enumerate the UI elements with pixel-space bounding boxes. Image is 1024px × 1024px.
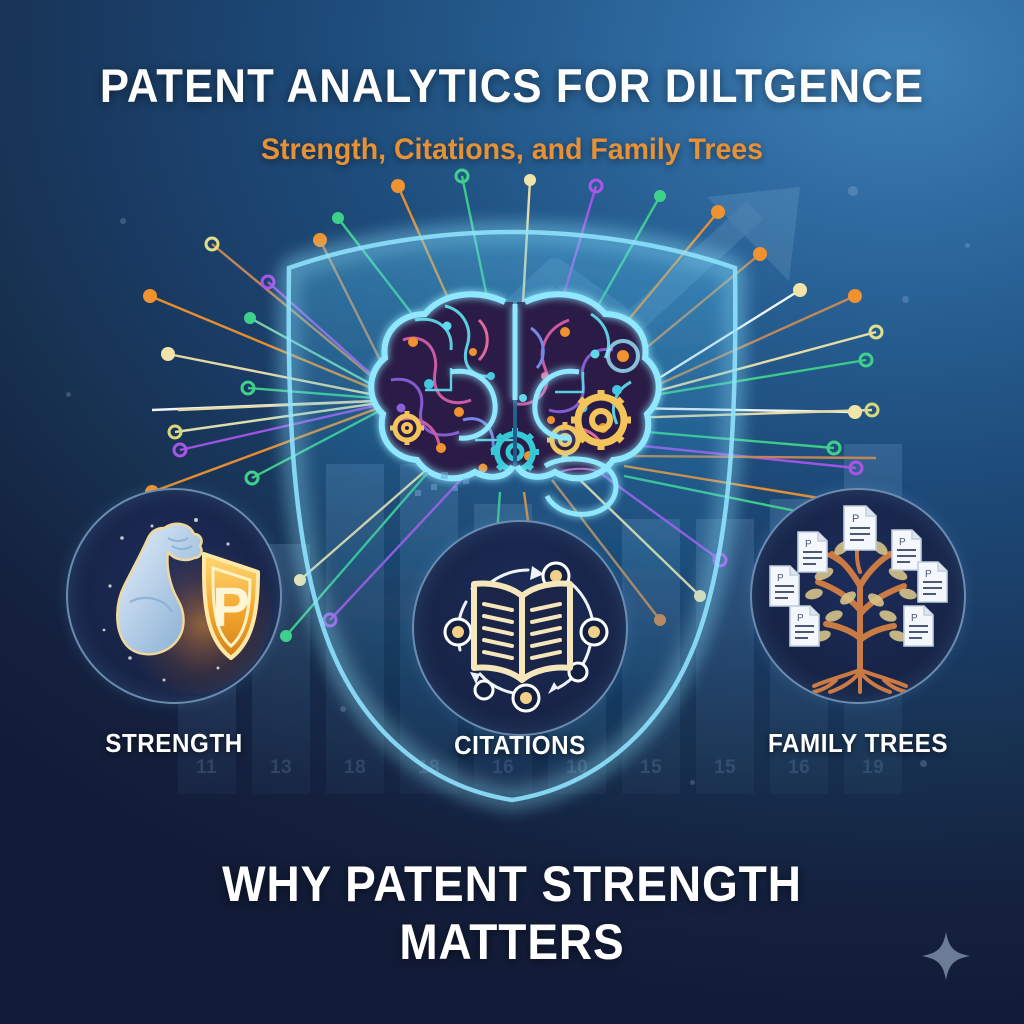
svg-text:P: P: [777, 573, 784, 584]
svg-text:P: P: [852, 513, 859, 525]
pillar-citations[interactable]: CITATIONS: [412, 520, 628, 736]
infographic-poster: 11 13 18 18 16 10 15 15 16 19: [0, 0, 1024, 1024]
svg-text:P: P: [805, 539, 812, 550]
pillar-citations-label: CITATIONS: [364, 730, 676, 761]
pillar-family-label: FAMILY TREES: [702, 728, 1014, 759]
circuit-board-brain-icon: [355, 280, 675, 525]
flexed-bicep-with-patent-shield-icon: P: [68, 490, 282, 704]
footer-title: WHY PATENT STRENGTH MATTERS: [41, 855, 983, 971]
footer-title-line1: WHY PATENT STRENGTH: [41, 855, 983, 913]
svg-text:P: P: [797, 613, 804, 624]
four-point-star-sparkle-icon: [920, 930, 972, 982]
svg-text:P: P: [899, 537, 906, 548]
page-title: PATENT ANALYTICS FOR DILTGENCE: [36, 58, 988, 113]
patent-family-tree-icon: P P: [752, 490, 966, 704]
page-subtitle: Strength, Citations, and Family Trees: [26, 133, 999, 167]
pillar-strength-disc: P: [66, 488, 282, 704]
pillar-strength-label: STRENGTH: [18, 728, 330, 759]
pillar-strength[interactable]: P STRENGTH: [66, 488, 282, 704]
svg-text:P: P: [911, 613, 918, 624]
pillar-citations-disc: [412, 520, 628, 736]
footer-title-line2: MATTERS: [41, 913, 983, 971]
svg-text:P: P: [925, 569, 932, 580]
shield-letter: P: [212, 575, 249, 638]
pillar-family-trees[interactable]: P P: [750, 488, 966, 704]
open-book-citation-cycle-icon: [414, 522, 628, 736]
pillar-family-disc: P P: [750, 488, 966, 704]
